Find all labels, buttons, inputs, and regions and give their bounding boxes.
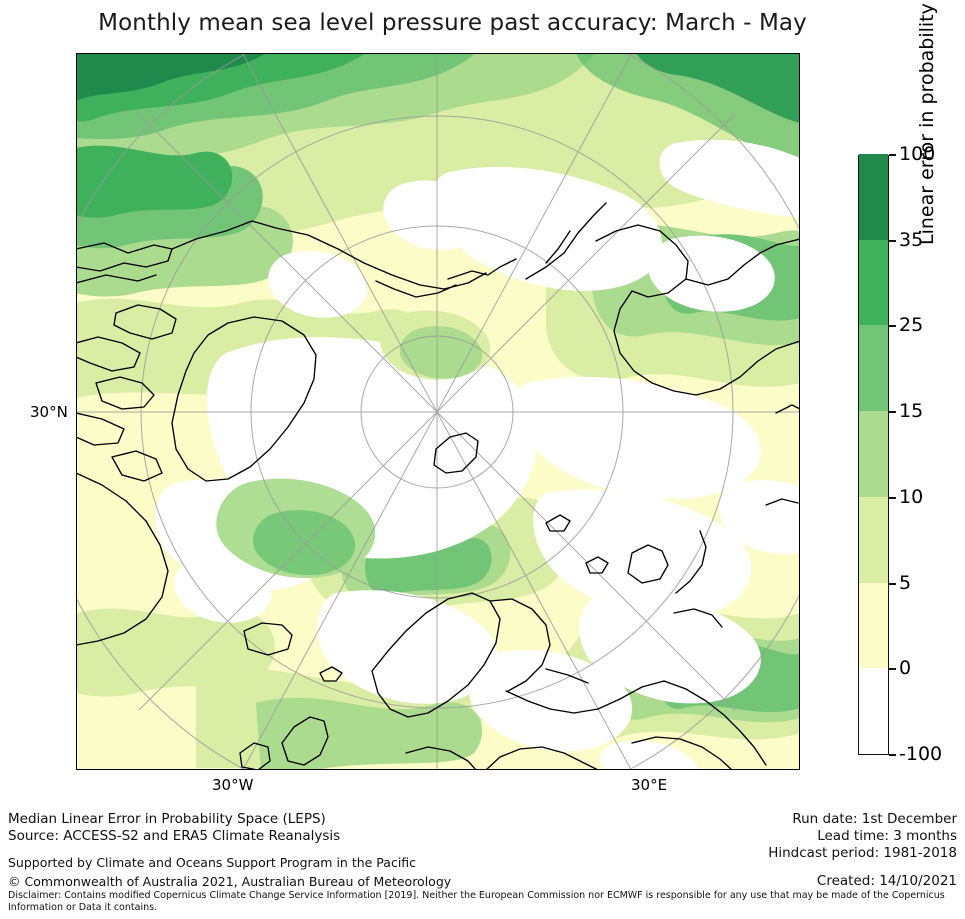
tick-mark xyxy=(889,154,896,156)
footer-hindcast-period: Hindcast period: 1981-2018 xyxy=(768,845,957,862)
tick-mark xyxy=(889,754,896,756)
tick-mark xyxy=(889,583,896,585)
footer-run-date: Run date: 1st December xyxy=(768,811,957,828)
colorbar-band-25-35 xyxy=(859,240,888,326)
tick-mark xyxy=(889,325,896,327)
footer-metric: Median Linear Error in Probability Space… xyxy=(8,811,340,828)
tick-label: -100 xyxy=(899,743,942,765)
colorbar-band-5-10 xyxy=(859,497,888,583)
colorbar-band--100-0 xyxy=(859,668,888,754)
colorbar-band-15-25 xyxy=(859,325,888,411)
footer-left: Median Linear Error in Probability Space… xyxy=(8,811,340,845)
footer-source: Source: ACCESS-S2 and ERA5 Climate Reana… xyxy=(8,828,340,845)
map-panel xyxy=(76,53,800,770)
colorbar-band-0-5 xyxy=(859,583,888,669)
colorbar xyxy=(858,155,889,755)
footer-right: Run date: 1st December Lead time: 3 mont… xyxy=(768,811,957,862)
footer-support: Supported by Climate and Oceans Support … xyxy=(8,855,416,870)
tick-label: 25 xyxy=(899,314,923,336)
tick-label: 15 xyxy=(899,400,923,422)
tick-mark xyxy=(889,240,896,242)
tick-label: 5 xyxy=(899,572,911,594)
axis-label-30w: 30°W xyxy=(212,776,253,794)
footer-created: Created: 14/10/2021 xyxy=(817,873,957,889)
page-title: Monthly mean sea level pressure past acc… xyxy=(0,10,905,36)
footer-lead-time: Lead time: 3 months xyxy=(768,828,957,845)
tick-mark xyxy=(889,411,896,413)
colorbar-band-35-100 xyxy=(859,154,888,240)
tick-label: 0 xyxy=(899,657,911,679)
tick-mark xyxy=(889,668,896,670)
tick-label: 10 xyxy=(899,486,923,508)
footer-disclaimer: Disclaimer: Contains modified Copernicus… xyxy=(8,890,958,913)
axis-label-30n: 30°N xyxy=(30,403,68,421)
footer-copyright: © Commonwealth of Australia 2021, Austra… xyxy=(8,874,451,889)
tick-mark xyxy=(889,497,896,499)
axis-label-30e: 30°E xyxy=(631,776,667,794)
skill-score-map xyxy=(76,53,800,770)
colorbar-title: Linear error in probability space skill … xyxy=(916,0,938,245)
colorbar-band-10-15 xyxy=(859,411,888,497)
